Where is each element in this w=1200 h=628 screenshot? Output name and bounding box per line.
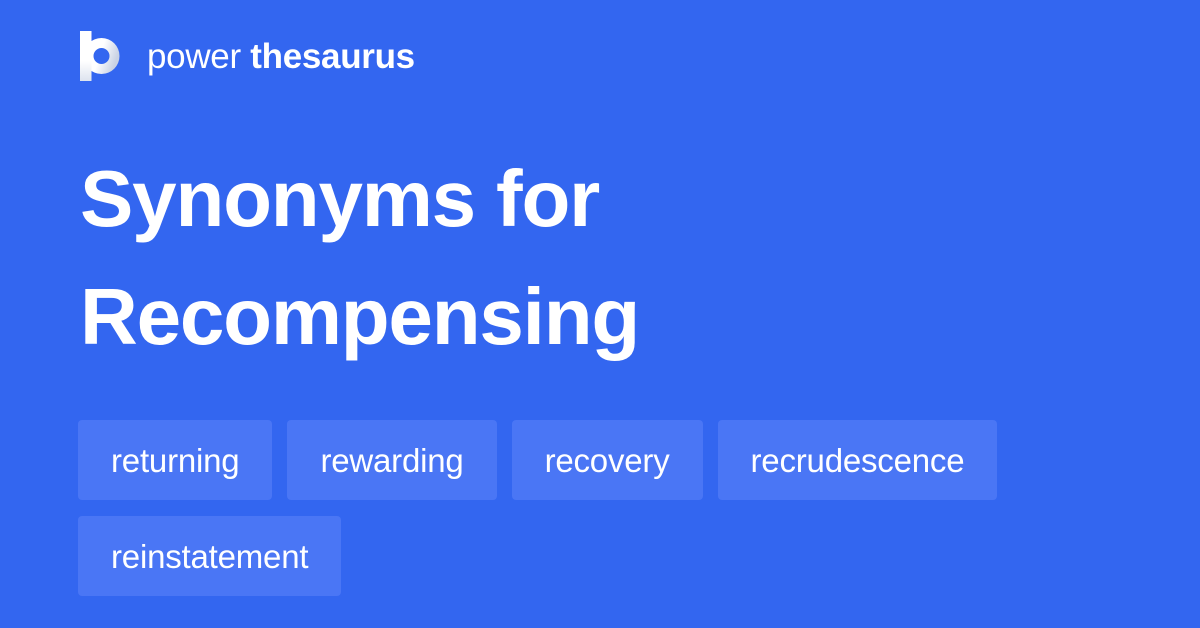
page-title-line-one: Synonyms for	[80, 140, 1120, 258]
brand-logo-lockup[interactable]: power thesaurus	[80, 28, 415, 84]
page-title: Synonyms for Recompensing	[80, 140, 1120, 375]
synonym-tag[interactable]: recrudescence	[718, 420, 998, 500]
synonym-tag[interactable]: recovery	[512, 420, 703, 500]
brand-name-part-one: power	[147, 39, 241, 74]
power-thesaurus-b-logo-icon	[80, 31, 126, 81]
synonym-tag[interactable]: returning	[78, 420, 272, 500]
brand-name-part-two: thesaurus	[250, 39, 415, 74]
synonym-tag[interactable]: reinstatement	[78, 516, 341, 596]
synonym-tag-list: returning rewarding recovery recrudescen…	[78, 420, 1122, 596]
page-title-line-two: Recompensing	[80, 258, 1120, 376]
synonym-tag[interactable]: rewarding	[287, 420, 496, 500]
share-card: power thesaurus Synonyms for Recompensin…	[0, 0, 1200, 628]
brand-name: power thesaurus	[147, 39, 415, 74]
